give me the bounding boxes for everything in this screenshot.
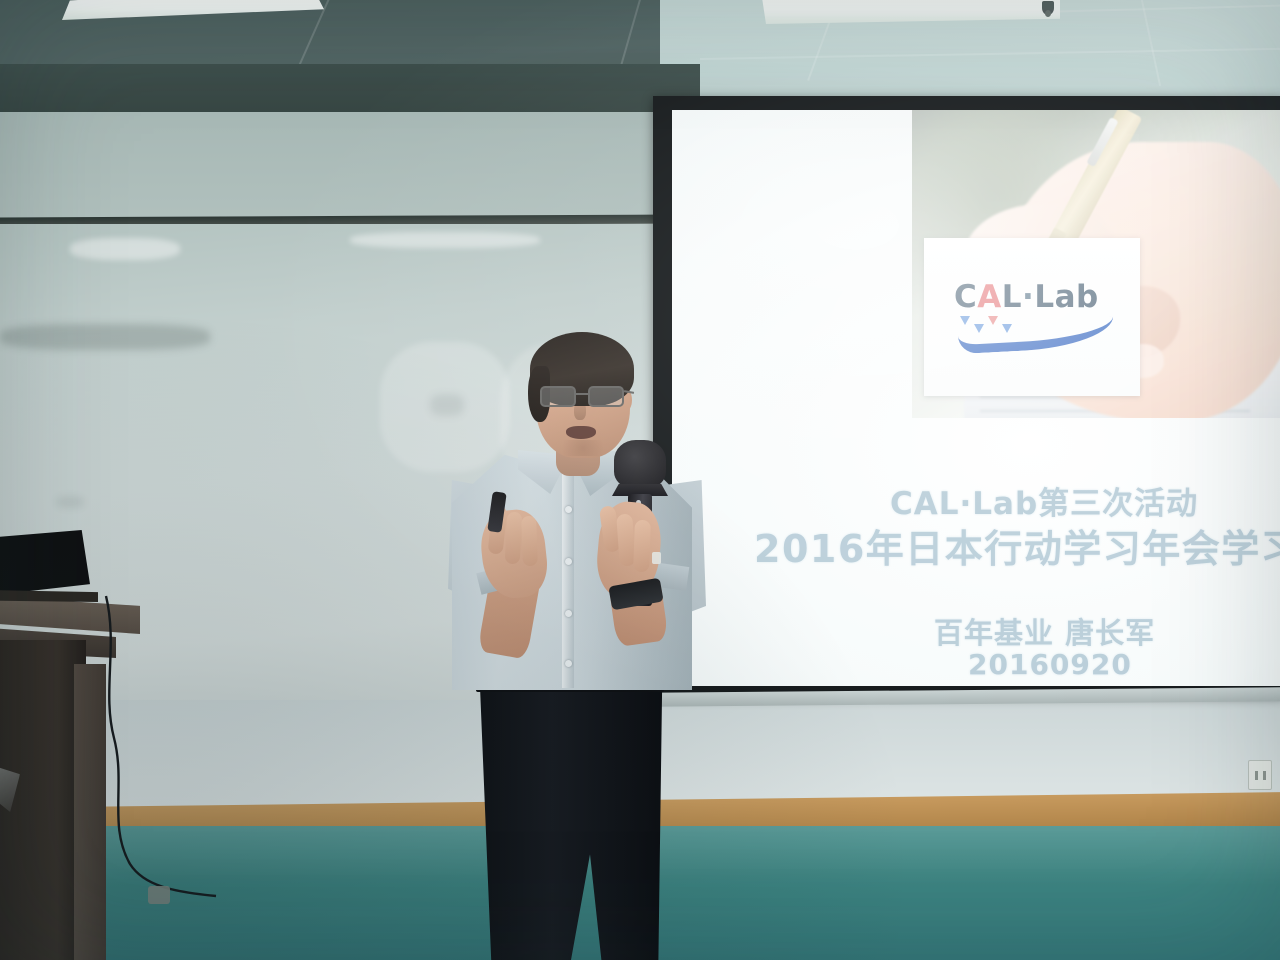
whiteboard-erased-mark [56, 496, 84, 508]
slide-author: 百年基业 唐长军 [934, 610, 1155, 652]
slide-text-block: CAL·Lab第三次活动 2016年日本行动学习年会学习分 百年基业 唐长军 2… [672, 110, 1280, 686]
presenter-finger [505, 512, 523, 565]
lecture-hall-photo: CAL·Lab CAL·Lab第三次活动 2016年日本行动学习年会学习分 百年… [0, 0, 1280, 960]
whiteboard-smudge [350, 232, 540, 248]
presenter-chin-shadow [554, 440, 612, 456]
whiteboard-erased-mark [0, 324, 210, 350]
slide-date: 20160920 [968, 648, 1132, 681]
glasses-temple [624, 390, 634, 394]
slide-title-line-1: CAL·Lab第三次活动 [890, 478, 1198, 523]
sprinkler-icon [1042, 1, 1054, 15]
microphone-head [614, 440, 666, 488]
slide-title-line-2: 2016年日本行动学习年会学习分 [754, 518, 1280, 573]
shirt-button [565, 506, 572, 513]
shirt-button [565, 660, 572, 667]
floor-socket [148, 886, 170, 904]
whiteboard-smudge [70, 238, 180, 260]
presenter-trousers [476, 682, 666, 960]
presenter-finger [633, 520, 651, 573]
presenter-shirt-placket [562, 462, 574, 688]
presenter [420, 330, 720, 960]
power-outlet [1248, 760, 1272, 790]
glasses-icon [538, 386, 630, 408]
shirt-button [565, 558, 572, 565]
podium-leg [74, 664, 106, 960]
glasses-lens [540, 386, 576, 407]
projection-screen: CAL·Lab CAL·Lab第三次活动 2016年日本行动学习年会学习分 百年… [672, 110, 1280, 686]
shirt-button [565, 610, 572, 617]
glasses-lens [588, 386, 624, 407]
glasses-bridge [576, 393, 588, 395]
presenter-mouth [566, 426, 596, 439]
presenter-finger [521, 516, 538, 566]
presenter-ring [652, 552, 661, 564]
